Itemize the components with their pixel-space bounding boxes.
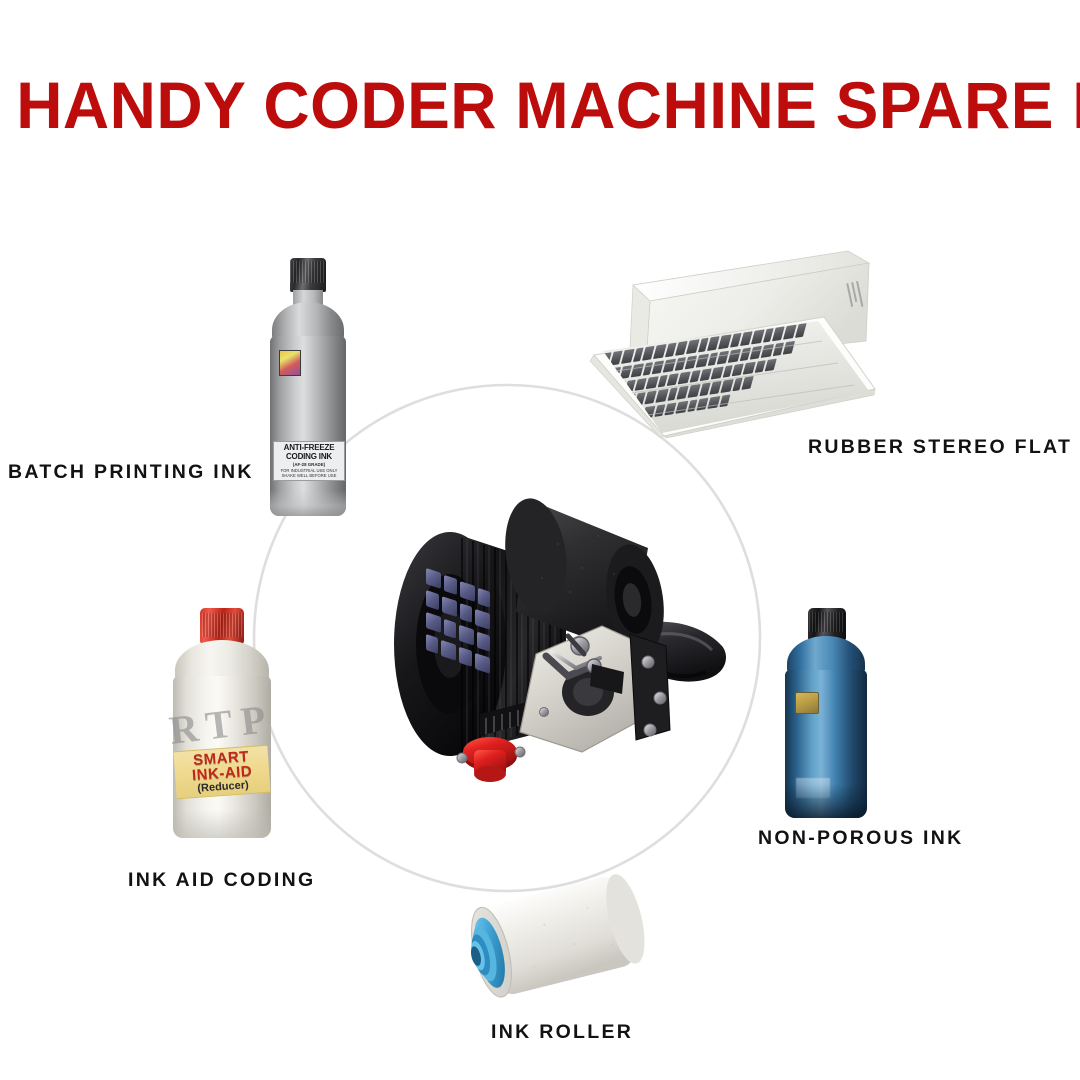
label-ink-roller: INK ROLLER xyxy=(491,1021,633,1044)
hologram-sticker-icon xyxy=(279,350,301,376)
product-ink-aid-coding[interactable]: RTP SMART INK-AID (Reducer) xyxy=(163,608,281,840)
handy-coder-illustration xyxy=(330,440,730,800)
label-line-1: ANTI-FREEZE xyxy=(284,443,335,452)
product-non-porous-ink[interactable] xyxy=(778,608,874,820)
stereo-flat-box-illustration xyxy=(586,243,876,438)
label-non-porous-ink: NON-POROUS INK xyxy=(758,827,964,850)
product-handy-coder-machine[interactable] xyxy=(330,440,730,800)
bottle-front-label: SMART INK-AID (Reducer) xyxy=(173,745,270,799)
label-line-3: (Reducer) xyxy=(197,779,249,795)
ink-roller-illustration xyxy=(452,868,662,1008)
bottle-cap-icon xyxy=(200,608,244,644)
bottle-shoulder xyxy=(787,636,865,674)
label-line-5: SHAKE WELL BEFORE USE xyxy=(282,473,337,478)
bottle-fine-print xyxy=(796,778,830,798)
label-batch-printing-ink: BATCH PRINTING INK xyxy=(8,461,254,484)
product-ink-roller[interactable] xyxy=(452,868,662,1008)
label-line-2: CODING INK xyxy=(286,452,332,461)
label-ink-aid-coding: INK AID CODING xyxy=(128,869,315,892)
page-title: HANDY CODER MACHINE SPARE PARTS xyxy=(16,72,1064,138)
label-rubber-stereo-flat: RUBBER STEREO FLAT xyxy=(808,436,1072,459)
product-rubber-stereo-flat[interactable] xyxy=(586,243,876,438)
bottle-cap-icon xyxy=(290,258,326,292)
gold-sticker-icon xyxy=(795,692,819,714)
poster-canvas: HANDY CODER MACHINE SPARE PARTS ANTI-FRE… xyxy=(0,0,1080,1080)
